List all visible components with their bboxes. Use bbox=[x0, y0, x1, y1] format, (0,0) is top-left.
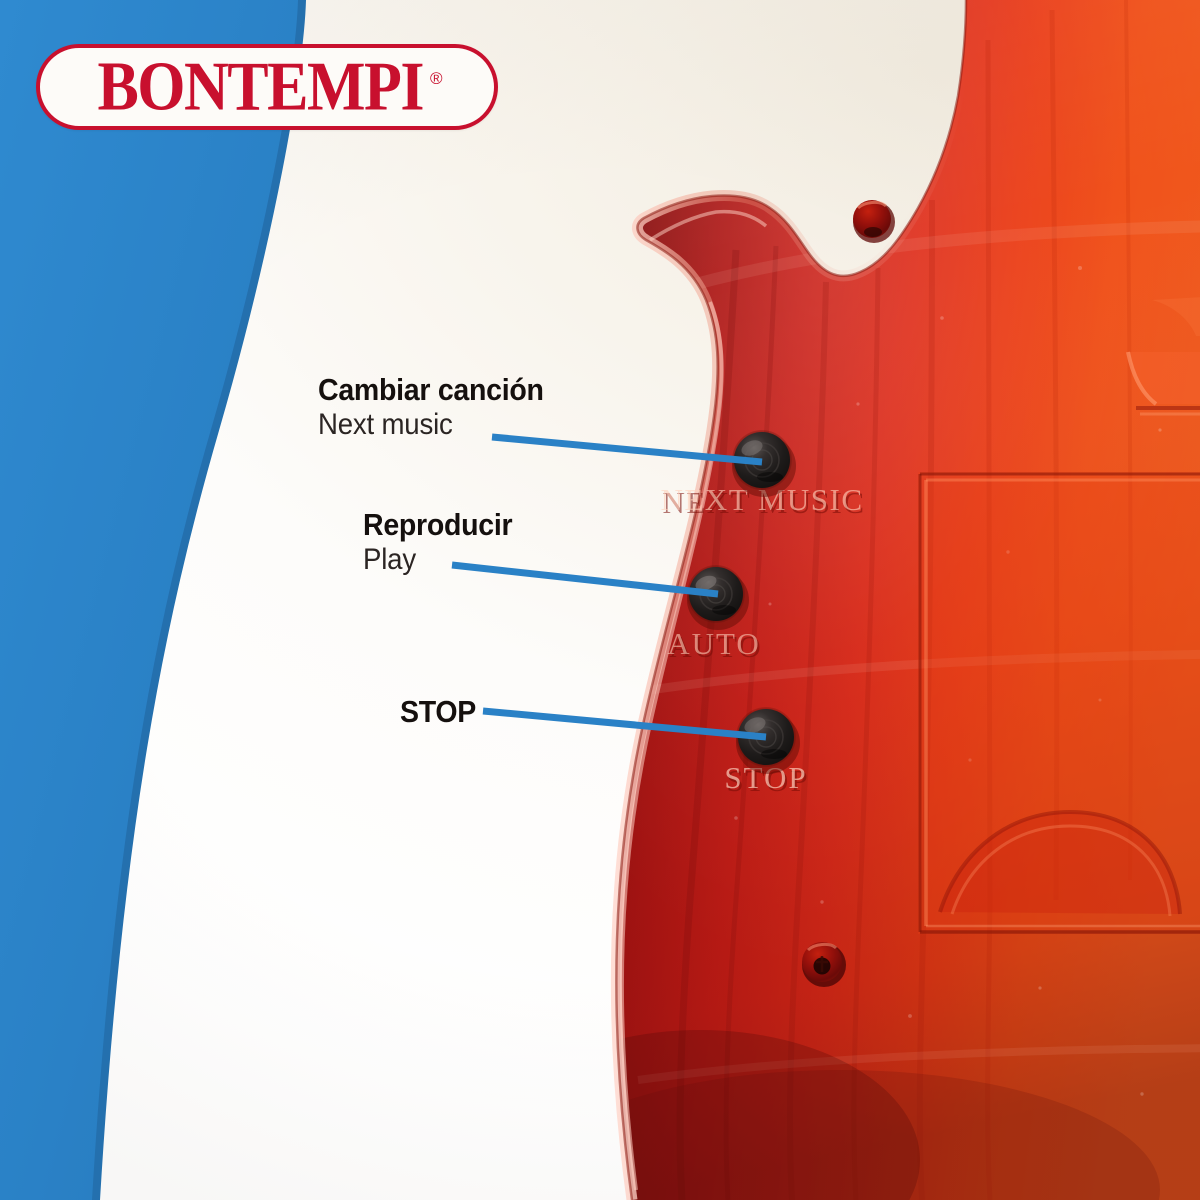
violin-body: NEXT MUSIC NEXT MUSIC AUTO AUTO STOP STO… bbox=[540, 0, 1200, 1200]
embossed-label-auto: AUTO AUTO bbox=[667, 626, 763, 664]
callout-next-music: Cambiar canción Next music bbox=[318, 372, 563, 443]
embossed-auto-text: AUTO bbox=[667, 626, 761, 661]
blue-accent-wedge bbox=[0, 0, 360, 1200]
bontempi-logo: BONTEMPI ® bbox=[36, 44, 498, 130]
registered-trademark-icon: ® bbox=[430, 70, 443, 87]
callout-stop: STOP bbox=[400, 694, 483, 729]
product-callout-image: NEXT MUSIC NEXT MUSIC AUTO AUTO STOP STO… bbox=[0, 0, 1200, 1200]
callout-play: Reproducir Play bbox=[363, 507, 525, 578]
callout-next-music-label-es: Cambiar canción bbox=[318, 372, 544, 407]
logo-wordmark: BONTEMPI bbox=[91, 52, 423, 121]
callout-play-label-en: Play bbox=[363, 542, 512, 578]
callout-stop-label-es: STOP bbox=[400, 694, 476, 729]
screw-hole-top bbox=[853, 200, 895, 243]
violin-silhouette bbox=[480, 0, 1200, 1200]
battery-compartment-door bbox=[918, 472, 1200, 934]
callout-next-music-label-en: Next music bbox=[318, 407, 544, 443]
callout-play-label-es: Reproducir bbox=[363, 507, 512, 542]
